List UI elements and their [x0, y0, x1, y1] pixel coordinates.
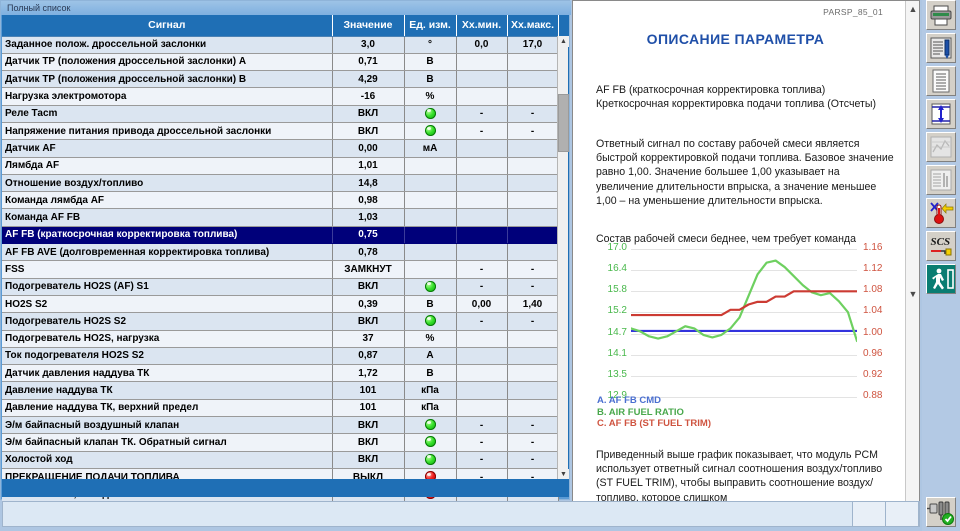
graph-disabled-icon — [927, 133, 955, 161]
cell-signal-name: Датчик AF — [2, 140, 332, 157]
table-row[interactable]: Команда лямбда AF0,98 — [2, 192, 558, 209]
cell-idle-min — [456, 244, 507, 261]
cell-unit: мА — [404, 140, 456, 157]
cell-idle-max: - — [507, 122, 558, 139]
cell-signal-name: Датчик давления наддува ТК — [2, 365, 332, 382]
scs-button[interactable]: SCS — [926, 231, 956, 261]
cell-idle-max — [507, 140, 558, 157]
temperature-button[interactable] — [926, 198, 956, 228]
cell-idle-min — [456, 157, 507, 174]
cell-unit — [404, 174, 456, 191]
cell-value: 0,75 — [332, 226, 404, 243]
table-row[interactable]: AF FB (краткосрочная корректировка топли… — [2, 226, 558, 243]
chart-right-tick: 0.88 — [863, 390, 895, 401]
cell-value: ВКЛ — [332, 451, 404, 468]
cell-status-lamp — [404, 278, 456, 295]
exit-button[interactable] — [926, 264, 956, 294]
chart-right-tick: 1.00 — [863, 327, 895, 338]
col-header-unit[interactable]: Ед. изм. — [404, 15, 456, 36]
description-paragraph-1: AF FB (краткосрочная корректировка топли… — [596, 83, 896, 111]
cell-value: ВКЛ — [332, 417, 404, 434]
cell-value: ЗАМКНУТ — [332, 261, 404, 278]
chart-list-icon — [927, 166, 955, 194]
table-row[interactable]: Заданное полож. дроссельной заслонки3,0°… — [2, 36, 558, 53]
col-header-signal[interactable]: Сигнал — [2, 15, 332, 36]
table-row[interactable]: Датчик AF0,00мА — [2, 140, 558, 157]
cell-signal-name: Лямбда AF — [2, 157, 332, 174]
thermometer-icon — [927, 199, 955, 227]
chart-left-tick: 14.7 — [595, 327, 627, 338]
chart-legend: A. AF FB CMDB. AIR FUEL RATIOC. AF FB (S… — [597, 395, 711, 430]
cell-value: ВКЛ — [332, 313, 404, 330]
cell-value: 37 — [332, 330, 404, 347]
cell-idle-max — [507, 226, 558, 243]
cell-value: 1,01 — [332, 157, 404, 174]
cell-idle-min — [456, 347, 507, 364]
chart-series-line — [631, 261, 857, 342]
table-row[interactable]: Ток подогревателя HO2S S20,87А — [2, 347, 558, 364]
cell-signal-name: AF FB (краткосрочная корректировка топли… — [2, 226, 332, 243]
cell-idle-max: - — [507, 261, 558, 278]
cell-signal-name: Нагрузка электромотора — [2, 88, 332, 105]
cell-idle-min: - — [456, 313, 507, 330]
cell-idle-max — [507, 399, 558, 416]
cell-unit — [404, 157, 456, 174]
cell-signal-name: Э/м байпасный клапан ТК. Обратный сигнал — [2, 434, 332, 451]
cell-idle-min — [456, 71, 507, 88]
table-row[interactable]: Э/м байпасный клапан ТК. Обратный сигнал… — [2, 434, 558, 451]
printer-icon — [927, 1, 955, 29]
cell-idle-min: - — [456, 434, 507, 451]
cell-value: 1,72 — [332, 365, 404, 382]
table-row[interactable]: Датчик ТР (положения дроссельной заслонк… — [2, 71, 558, 88]
cell-idle-max — [507, 157, 558, 174]
cell-value: 0,87 — [332, 347, 404, 364]
list-footer-bar — [2, 479, 569, 497]
cell-idle-max — [507, 209, 558, 226]
cell-unit: ° — [404, 36, 456, 53]
lamp-on-icon — [425, 281, 436, 292]
cell-value: ВКЛ — [332, 278, 404, 295]
doc-scroll-up-icon[interactable]: ▲ — [906, 1, 920, 17]
cell-unit: кПа — [404, 399, 456, 416]
lamp-on-icon — [425, 315, 436, 326]
resize-button[interactable] — [926, 99, 956, 129]
svg-text:SCS: SCS — [931, 236, 951, 248]
chart-right-tick: 1.04 — [863, 305, 895, 316]
chart-legend-item: C. AF FB (ST FUEL TRIM) — [597, 418, 711, 430]
cell-idle-max — [507, 382, 558, 399]
col-header-idle-max[interactable]: Хх.макс. — [507, 15, 558, 36]
lamp-on-icon — [425, 419, 436, 430]
cell-idle-max — [507, 71, 558, 88]
status-bar — [2, 501, 920, 527]
cell-idle-min — [456, 174, 507, 191]
description-paragraph-2: Ответный сигнал по составу рабочей смеси… — [596, 137, 896, 208]
table-row[interactable]: Давление наддува ТК, верхний предел101кП… — [2, 399, 558, 416]
cell-signal-name: Э/м байпасный воздушный клапан — [2, 417, 332, 434]
cell-unit: % — [404, 330, 456, 347]
cell-signal-name: Подогреватель HO2S S2 — [2, 313, 332, 330]
cell-signal-name: Команда лямбда AF — [2, 192, 332, 209]
cell-signal-name: Напряжение питания привода дроссельной з… — [2, 122, 332, 139]
cell-signal-name: Подогреватель HO2S (AF) S1 — [2, 278, 332, 295]
chart-list-button[interactable] — [926, 165, 956, 195]
cell-value: ВКЛ — [332, 434, 404, 451]
parameter-table: Сигнал Значение Ед. изм. Хх.мин. Хх.макс… — [2, 15, 559, 504]
table-row[interactable]: Лямбда AF1,01 — [2, 157, 558, 174]
table-row[interactable]: Напряжение питания привода дроссельной з… — [2, 122, 558, 139]
cell-unit: В — [404, 71, 456, 88]
graph-button[interactable] — [926, 132, 956, 162]
cell-signal-name: Давление наддува ТК — [2, 382, 332, 399]
table-row[interactable]: Э/м байпасный воздушный клапанВКЛ-- — [2, 417, 558, 434]
cell-status-lamp — [404, 434, 456, 451]
cell-idle-max — [507, 88, 558, 105]
table-scrollbar[interactable]: ▲ ▼ — [557, 36, 568, 480]
cell-value: 1,03 — [332, 209, 404, 226]
chart-right-tick: 1.16 — [863, 242, 895, 253]
table-row[interactable]: Подогреватель HO2S, нагрузка37% — [2, 330, 558, 347]
cell-value: ВКЛ — [332, 122, 404, 139]
status-cell-2[interactable] — [886, 502, 919, 526]
cell-idle-min: - — [456, 278, 507, 295]
lamp-on-icon — [425, 125, 436, 136]
table-row[interactable]: Реле ТасmВКЛ-- — [2, 105, 558, 122]
col-header-value[interactable]: Значение — [332, 15, 404, 36]
cell-signal-name: Холостой ход — [2, 451, 332, 468]
cell-unit: В — [404, 53, 456, 70]
cell-idle-max — [507, 330, 558, 347]
right-toolbar: SCS — [922, 0, 960, 531]
doc-scroll-down-icon[interactable]: ▼ — [906, 286, 920, 302]
cell-unit: кПа — [404, 382, 456, 399]
scroll-up-icon[interactable]: ▲ — [558, 36, 569, 47]
parameter-list-panel: Полный список Сигнал Значение Ед. изм. Х… — [0, 0, 570, 500]
chart-legend-item: A. AF FB CMD — [597, 395, 711, 407]
table-row[interactable]: Датчик ТР (положения дроссельной заслонк… — [2, 53, 558, 70]
col-header-idle-min[interactable]: Хх.мин. — [456, 15, 507, 36]
chart-legend-item: B. AIR FUEL RATIO — [597, 407, 711, 419]
chart-left-tick: 15.2 — [595, 305, 627, 316]
table-row[interactable]: HO2S S20,39В0,001,40 — [2, 295, 558, 312]
chart-left-tick: 17.0 — [595, 242, 627, 253]
scs-icon: SCS — [927, 232, 955, 260]
cell-unit — [404, 226, 456, 243]
cell-idle-max — [507, 192, 558, 209]
chart-title: Состав рабочей смеси беднее, чем требует… — [596, 233, 901, 245]
cell-idle-min — [456, 330, 507, 347]
cell-signal-name: AF FB AVE (долговременная корректировка … — [2, 244, 332, 261]
table-body: Заданное полож. дроссельной заслонки3,0°… — [2, 36, 558, 503]
cell-status-lamp — [404, 105, 456, 122]
cell-idle-min: - — [456, 105, 507, 122]
cell-signal-name: Команда AF FB — [2, 209, 332, 226]
chart-right-tick: 1.12 — [863, 263, 895, 274]
cell-value: 0,78 — [332, 244, 404, 261]
cell-value: 4,29 — [332, 71, 404, 88]
cell-signal-name: FSS — [2, 261, 332, 278]
cell-signal-name: Подогреватель HO2S, нагрузка — [2, 330, 332, 347]
cell-idle-max — [507, 244, 558, 261]
cell-value: 14,8 — [332, 174, 404, 191]
print-button[interactable] — [926, 0, 956, 30]
cell-status-lamp — [404, 417, 456, 434]
cell-idle-max — [507, 174, 558, 191]
chart-right-tick: 1.08 — [863, 284, 895, 295]
cell-signal-name: Датчик ТР (положения дроссельной заслонк… — [2, 53, 332, 70]
table-row[interactable]: Давление наддува ТК101кПа — [2, 382, 558, 399]
table-row[interactable]: AF FB AVE (долговременная корректировка … — [2, 244, 558, 261]
cell-value: 101 — [332, 399, 404, 416]
app-window: Полный список Сигнал Значение Ед. изм. Х… — [0, 0, 960, 531]
cell-unit: А — [404, 347, 456, 364]
table-row[interactable]: Подогреватель HO2S S2ВКЛ-- — [2, 313, 558, 330]
cell-idle-min — [456, 88, 507, 105]
table-row[interactable]: FSSЗАМКНУТ-- — [2, 261, 558, 278]
list-title: Полный список — [1, 1, 571, 15]
cell-idle-max: 17,0 — [507, 36, 558, 53]
cell-value: 0,71 — [332, 53, 404, 70]
table-row[interactable]: Холостой ходВКЛ-- — [2, 451, 558, 468]
cell-value: 101 — [332, 382, 404, 399]
table-row[interactable]: Подогреватель HO2S (AF) S1ВКЛ-- — [2, 278, 558, 295]
cell-idle-min — [456, 209, 507, 226]
chart-left-tick: 14.1 — [595, 348, 627, 359]
chart-plot-area — [631, 249, 857, 397]
cell-idle-max: - — [507, 434, 558, 451]
cell-idle-max: - — [507, 105, 558, 122]
cell-idle-min — [456, 53, 507, 70]
cell-signal-name: Ток подогревателя HO2S S2 — [2, 347, 332, 364]
cell-idle-max: 1,40 — [507, 295, 558, 312]
cell-signal-name: Давление наддува ТК, верхний предел — [2, 399, 332, 416]
notes-button[interactable] — [926, 33, 956, 63]
table-row[interactable]: Отношение воздух/топливо14,8 — [2, 174, 558, 191]
cell-idle-min: - — [456, 451, 507, 468]
cell-unit: В — [404, 295, 456, 312]
connector-ok-icon — [927, 498, 955, 526]
chart-right-tick: 0.92 — [863, 369, 895, 380]
cell-signal-name: Заданное полож. дроссельной заслонки — [2, 36, 332, 53]
cell-status-lamp — [404, 313, 456, 330]
cell-idle-min — [456, 140, 507, 157]
lamp-on-icon — [425, 454, 436, 465]
lamp-on-icon — [425, 436, 436, 447]
cell-idle-max: - — [507, 278, 558, 295]
scrollbar-thumb[interactable] — [558, 94, 569, 152]
cell-idle-min: - — [456, 261, 507, 278]
resize-vertical-icon — [927, 100, 955, 128]
chart-left-tick: 15.8 — [595, 284, 627, 295]
cell-idle-max — [507, 53, 558, 70]
cell-idle-min — [456, 192, 507, 209]
cell-idle-min — [456, 382, 507, 399]
cell-idle-min — [456, 365, 507, 382]
cell-idle-max — [507, 347, 558, 364]
cell-unit: В — [404, 365, 456, 382]
chart-left-tick: 13.5 — [595, 369, 627, 380]
table-row[interactable]: Нагрузка электромотора-16% — [2, 88, 558, 105]
cell-idle-max: - — [507, 451, 558, 468]
cell-unit — [404, 209, 456, 226]
cell-status-lamp — [404, 451, 456, 468]
cell-signal-name: Отношение воздух/топливо — [2, 174, 332, 191]
table-row[interactable]: Команда AF FB1,03 — [2, 209, 558, 226]
cell-value: -16 — [332, 88, 404, 105]
description-paragraph-3: Приведенный выше график показывает, что … — [596, 448, 896, 502]
cell-unit: % — [404, 88, 456, 105]
cell-idle-min — [456, 399, 507, 416]
cell-value: 0,00 — [332, 140, 404, 157]
parameter-table-wrap: Сигнал Значение Ед. изм. Хх.мин. Хх.макс… — [2, 15, 569, 480]
cell-unit — [404, 261, 456, 278]
table-row[interactable]: Датчик давления наддува ТК1,72В — [2, 365, 558, 382]
chart-left-tick: 16.4 — [595, 263, 627, 274]
status-message-area — [3, 502, 853, 526]
chart-svg — [631, 249, 857, 397]
connector-status-button[interactable] — [926, 497, 956, 527]
description-scrollbar[interactable]: ▲ ▼ — [905, 1, 919, 501]
table-header-row: Сигнал Значение Ед. изм. Хх.мин. Хх.макс… — [2, 15, 558, 36]
cell-signal-name: Датчик ТР (положения дроссельной заслонк… — [2, 71, 332, 88]
cell-value: 0,39 — [332, 295, 404, 312]
cell-value: 0,98 — [332, 192, 404, 209]
cell-value: ВКЛ — [332, 105, 404, 122]
chart-right-tick: 0.96 — [863, 348, 895, 359]
cell-value: 3,0 — [332, 36, 404, 53]
exit-door-icon — [927, 265, 955, 293]
lamp-on-icon — [425, 108, 436, 119]
document-icon — [927, 67, 955, 95]
cell-idle-min: 0,00 — [456, 295, 507, 312]
cell-idle-min — [456, 226, 507, 243]
cell-idle-max — [507, 365, 558, 382]
document-title: ОПИСАНИЕ ПАРАМЕТРА — [573, 31, 898, 47]
cell-idle-min: 0,0 — [456, 36, 507, 53]
document-button[interactable] — [926, 66, 956, 96]
cell-status-lamp — [404, 122, 456, 139]
description-panel: PARSP_85_01 ОПИСАНИЕ ПАРАМЕТРА AF FB (кр… — [572, 0, 920, 502]
cell-signal-name: HO2S S2 — [2, 295, 332, 312]
cell-idle-min: - — [456, 417, 507, 434]
cell-unit — [404, 192, 456, 209]
cell-idle-max: - — [507, 313, 558, 330]
cell-idle-min: - — [456, 122, 507, 139]
notes-pen-icon — [927, 34, 955, 62]
cell-idle-max: - — [507, 417, 558, 434]
cell-signal-name: Реле Тасm — [2, 105, 332, 122]
cell-unit — [404, 244, 456, 261]
document-code: PARSP_85_01 — [823, 7, 883, 17]
af-fb-chart: 17.016.415.815.214.714.113.512.9 1.161.1… — [595, 249, 895, 397]
status-cell-1[interactable] — [853, 502, 886, 526]
